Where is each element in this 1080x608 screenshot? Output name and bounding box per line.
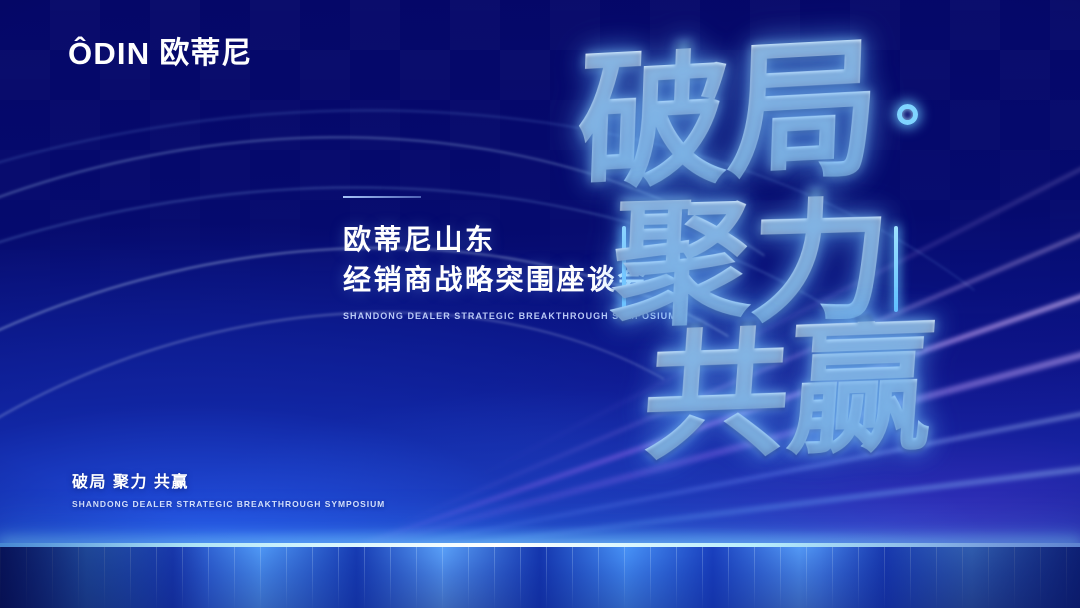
floor-shade-right bbox=[820, 547, 1080, 608]
footer-slogan-english: SHANDONG DEALER STRATEGIC BREAKTHROUGH S… bbox=[72, 499, 385, 509]
brand-logo: ÔDIN 欧蒂尼 bbox=[68, 38, 252, 69]
circle-accent-icon bbox=[897, 104, 918, 125]
footer-slogan: 破局 聚力 共赢 SHANDONG DEALER STRATEGIC BREAK… bbox=[72, 468, 385, 509]
horizon-glow bbox=[0, 516, 1080, 556]
logo-chinese-name: 欧蒂尼 bbox=[159, 39, 252, 69]
footer-slogan-chinese: 破局 聚力 共赢 bbox=[72, 468, 385, 492]
hero-line-3: 共赢 bbox=[644, 324, 932, 458]
vertical-bar-right-icon bbox=[894, 226, 898, 312]
poster-canvas: ÔDIN 欧蒂尼 欧蒂尼山东 经销商战略突围座谈会 SHANDONG DEALE… bbox=[0, 0, 1080, 608]
title-divider-rule bbox=[343, 196, 421, 198]
hero-text-poju: 破局 bbox=[575, 38, 881, 193]
stage-floor bbox=[0, 547, 1080, 608]
hero-calligraphy: 破局 聚力 共赢 bbox=[560, 46, 1030, 466]
hero-line-1: 破局 bbox=[578, 46, 878, 186]
horizon-line bbox=[0, 543, 1080, 547]
logo-wordmark: ÔDIN bbox=[68, 38, 150, 69]
floor-grid-lines bbox=[0, 547, 1080, 608]
floor-shade-left bbox=[0, 547, 210, 608]
hero-text-gongying: 共赢 bbox=[639, 319, 937, 463]
